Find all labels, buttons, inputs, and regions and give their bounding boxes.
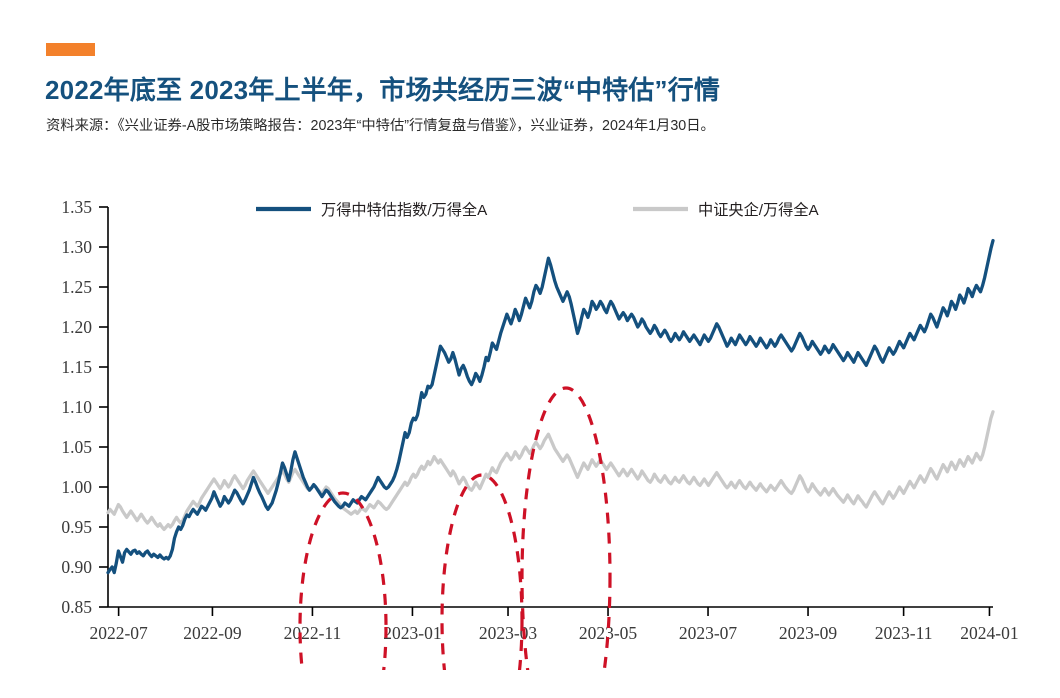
y-tick-label: 1.00 [61,477,92,497]
y-tick-label: 1.35 [61,197,92,217]
chart-container: 万得中特估指数/万得全A 中证央企/万得全A 1.351.301.251.201… [0,160,1060,670]
x-tick-marks [119,607,990,616]
chart-legend: 万得中特估指数/万得全A 中证央企/万得全A [256,201,820,219]
y-tick-label: 1.15 [61,357,92,377]
series-line-central-soe [108,412,993,530]
y-tick-label: 1.30 [61,237,92,257]
y-tick-label: 0.95 [61,517,92,537]
y-tick-label: 1.10 [61,397,92,417]
x-tick-label: 2023-01 [383,623,441,643]
y-tick-marks [99,207,108,607]
y-tick-label: 0.85 [61,597,92,617]
x-tick-label: 2022-09 [183,623,242,643]
x-tick-label: 2023-09 [779,623,838,643]
x-tick-label: 2023-07 [679,623,738,643]
x-tick-label: 2023-11 [875,623,933,643]
x-tick-label: 2023-03 [479,623,538,643]
source-note: 资料来源：《兴业证券-A股市场策略报告：2023年“中特估”行情复盘与借鉴》，兴… [46,117,1036,136]
accent-bar [46,43,95,56]
line-chart: 万得中特估指数/万得全A 中证央企/万得全A 1.351.301.251.201… [0,160,1060,670]
page-title: 2022年底至 2023年上半年，市场共经历三波“中特估”行情 [45,74,1025,107]
chart-annotations [300,388,610,670]
x-tick-label: 2022-11 [284,623,342,643]
series-line-zhongtegu [108,241,993,573]
legend-label-series1: 万得中特估指数/万得全A [321,201,488,219]
y-tick-label: 0.90 [61,557,92,577]
x-tick-label: 2024-01 [960,623,1018,643]
x-tick-labels: 2022-072022-092022-112023-012023-032023-… [89,623,1018,643]
legend-label-series2: 中证央企/万得全A [698,201,820,219]
y-tick-label: 1.25 [61,277,92,297]
y-tick-label: 1.20 [61,317,92,337]
x-tick-label: 2022-07 [89,623,148,643]
wave-1-ellipse [300,493,386,670]
y-tick-label: 1.05 [61,437,92,457]
chart-series [108,241,993,573]
chart-page: 2022年底至 2023年上半年，市场共经历三波“中特估”行情 资料来源：《兴业… [0,0,1060,698]
y-tick-labels: 1.351.301.251.201.151.101.051.000.950.90… [61,197,92,617]
